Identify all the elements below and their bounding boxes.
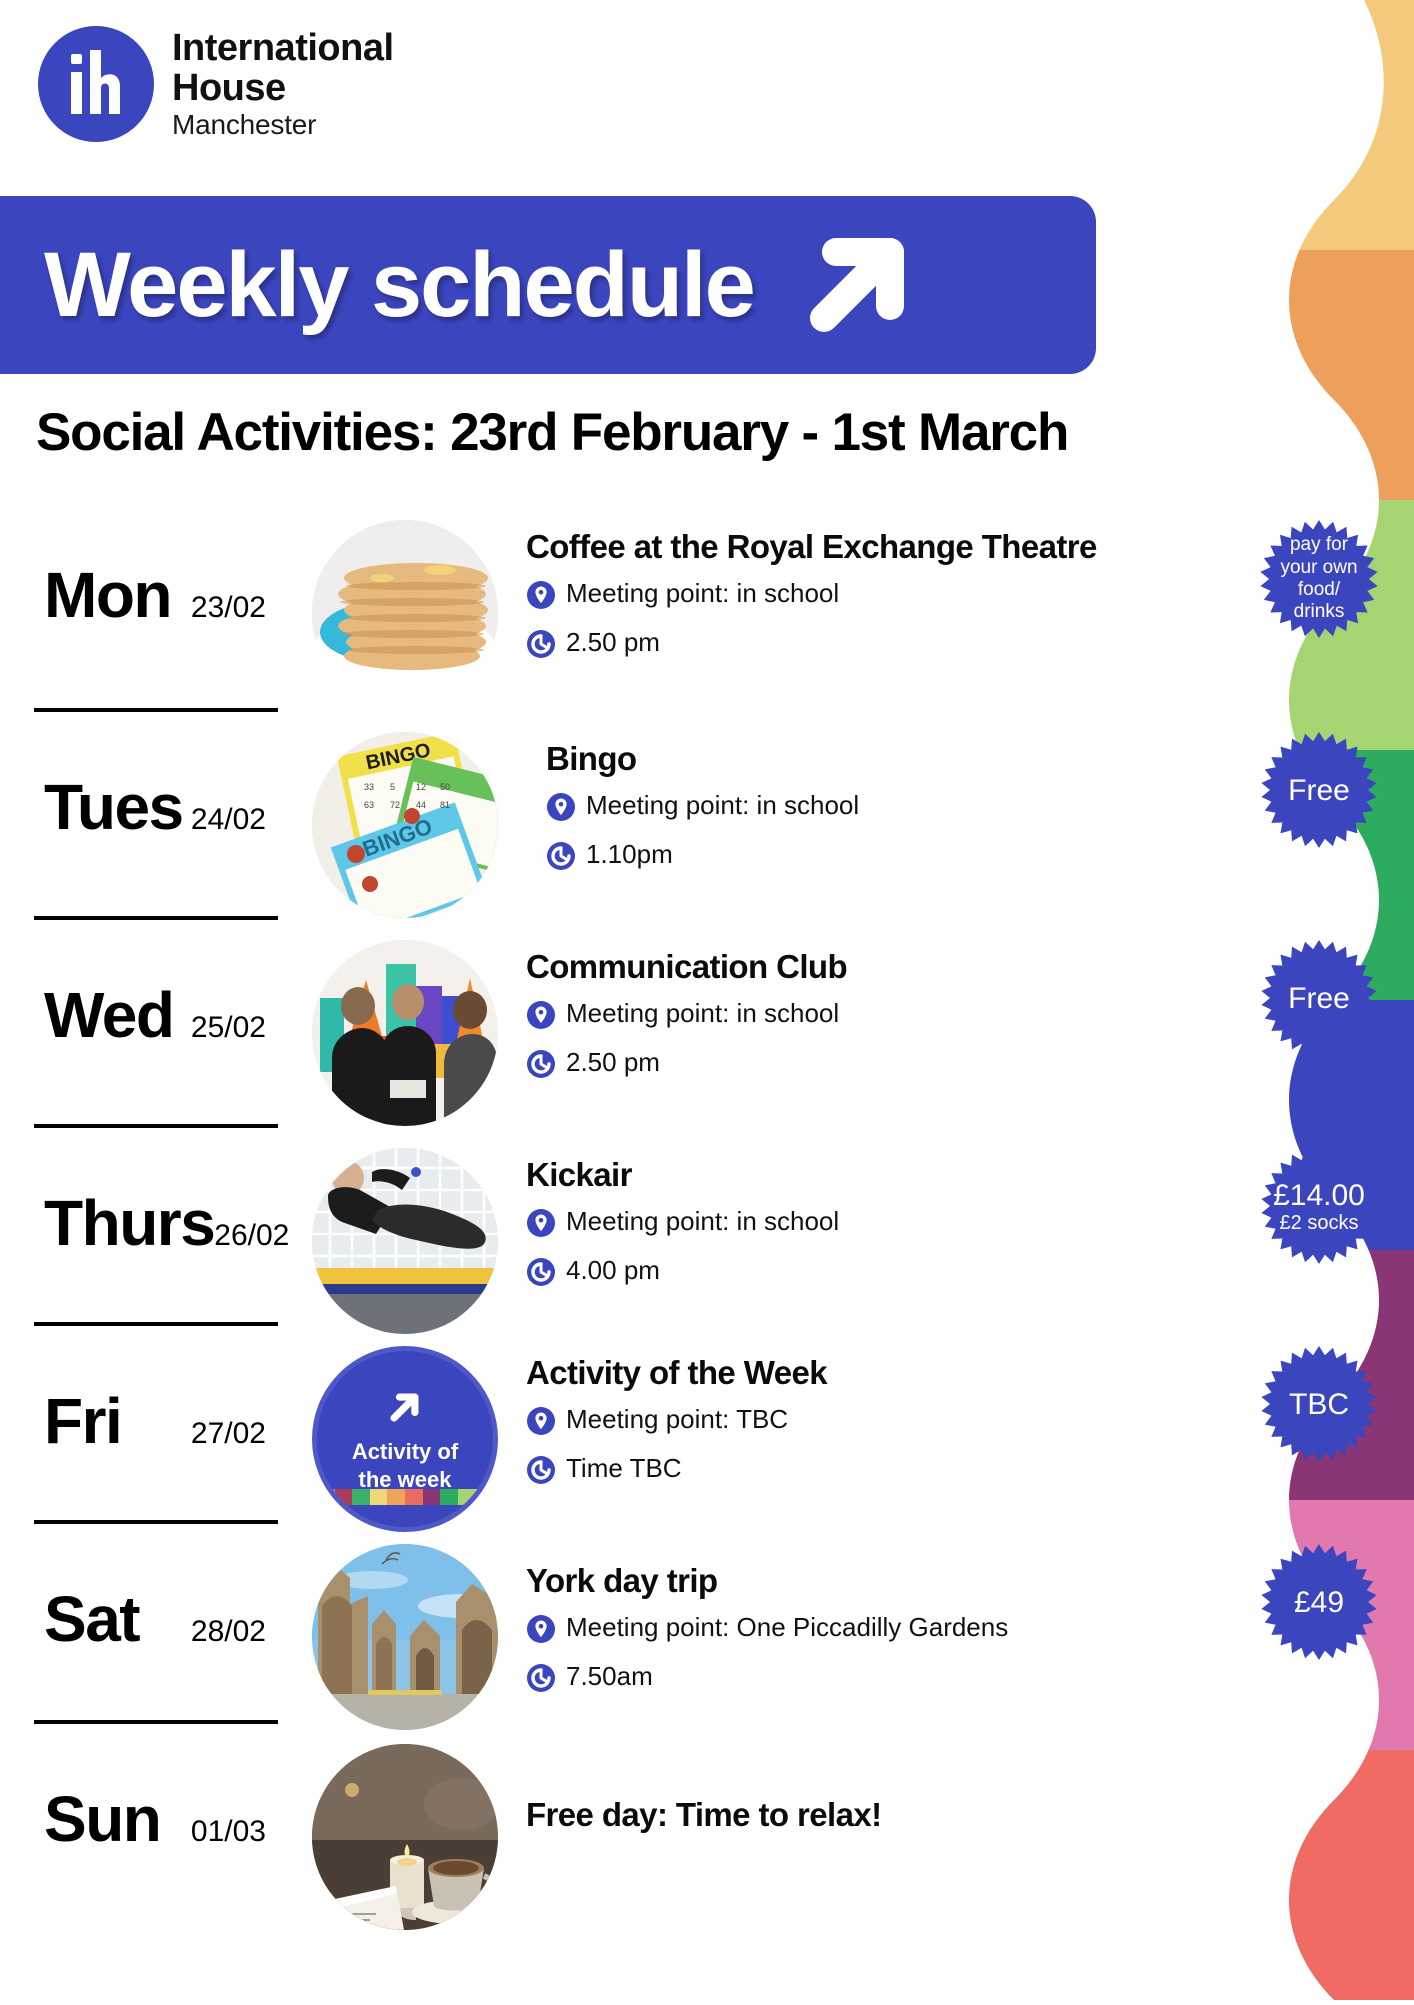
brand-logo: International House Manchester — [38, 26, 394, 142]
price-badge-cell: Free — [1224, 732, 1414, 848]
svg-text:63: 63 — [364, 800, 374, 810]
price-badge-label: £14.00£2 socks — [1261, 1148, 1377, 1264]
day-cell-thurs: Thurs26/02 — [0, 1148, 300, 1260]
price-badge-label: pay for your own food/ drinks — [1260, 520, 1378, 638]
activity-title: Bingo — [546, 740, 1224, 778]
price-badge-main: Free — [1288, 774, 1350, 807]
day-name: Wed — [44, 978, 173, 1052]
arrow-up-right-icon — [383, 1385, 427, 1429]
activity-thumbnail-cell — [300, 1744, 510, 1930]
price-badge-cell: £14.00£2 socks — [1224, 1148, 1414, 1264]
price-badge-main: pay for your own food/ drinks — [1260, 534, 1378, 624]
activity-thumbnail-cell: Activity ofthe week — [300, 1346, 510, 1532]
price-badge: £49 — [1261, 1544, 1377, 1660]
activity-title: Kickair — [526, 1156, 1224, 1194]
ih-monogram-icon — [38, 26, 154, 142]
schedule-list: Mon23/02Coffee at the Royal Exchange The… — [0, 520, 1414, 1942]
activity-details: KickairMeeting point: in school4.00 pm — [510, 1148, 1224, 1304]
location-pin-icon — [526, 1208, 556, 1238]
location-pin-icon — [526, 578, 556, 615]
time-row: 4.00 pm — [526, 1255, 1224, 1292]
svg-text:33: 33 — [364, 782, 374, 792]
day-divider — [34, 708, 278, 712]
day-cell-mon: Mon23/02 — [0, 520, 300, 632]
clock-icon — [526, 1453, 556, 1490]
meeting-point-row: Meeting point: in school — [526, 998, 1224, 1035]
location-pin-icon — [526, 580, 556, 610]
price-badge-sub: £2 socks — [1280, 1212, 1359, 1234]
price-badge-label: Free — [1261, 732, 1377, 848]
arrow-up-right-glyph — [798, 226, 918, 344]
bingo-cards-photo: BINGOBINGO335125063724481 — [312, 732, 498, 918]
svg-text:44: 44 — [416, 800, 426, 810]
schedule-row: Mon23/02Coffee at the Royal Exchange The… — [0, 520, 1414, 732]
coffee-candle-book-photo — [312, 1744, 498, 1930]
svg-text:72: 72 — [390, 800, 400, 810]
price-badge-label: £49 — [1261, 1544, 1377, 1660]
activity-title: York day trip — [526, 1562, 1224, 1600]
clock-icon — [546, 841, 576, 871]
location-pin-icon — [526, 1000, 556, 1030]
ih-logo-icon — [38, 26, 154, 142]
activity-thumbnail-cell — [300, 1544, 510, 1730]
clock-icon — [526, 1257, 556, 1287]
subtitle: Social Activities: 23rd February - 1st M… — [36, 402, 1068, 463]
schedule-row: Fri27/02Activity ofthe weekActivity of t… — [0, 1346, 1414, 1544]
brand-line-2: House — [172, 69, 394, 107]
day-name: Tues — [44, 770, 183, 844]
activity-title: Free day: Time to relax! — [526, 1796, 1224, 1834]
day-date: 26/02 — [214, 1219, 323, 1253]
svg-text:12: 12 — [416, 782, 426, 792]
price-badge: pay for your own food/ drinks — [1260, 520, 1378, 638]
meeting-point-text: Meeting point: in school — [566, 998, 839, 1029]
price-badge-main: £14.00 — [1273, 1179, 1365, 1212]
time-text: 4.00 pm — [566, 1255, 660, 1286]
svg-text:5: 5 — [390, 782, 395, 792]
activity-details: Coffee at the Royal Exchange TheatreMeet… — [510, 520, 1224, 676]
location-pin-icon — [526, 998, 556, 1035]
schedule-row: Sun01/03Free day: Time to relax! — [0, 1744, 1414, 1942]
day-cell-fri: Fri27/02 — [0, 1346, 300, 1458]
title-banner: Weekly schedule — [0, 196, 1096, 374]
meeting-point-text: Meeting point: One Piccadilly Gardens — [566, 1612, 1008, 1643]
price-badge-main: Free — [1288, 982, 1350, 1015]
location-pin-icon — [526, 1404, 556, 1441]
day-name: Thurs — [44, 1186, 214, 1260]
day-date: 01/03 — [191, 1815, 300, 1849]
time-text: 1.10pm — [586, 839, 673, 870]
meeting-point-text: Meeting point: in school — [566, 578, 839, 609]
day-date: 27/02 — [191, 1417, 300, 1451]
activity-title: Activity of the Week — [526, 1354, 1234, 1392]
time-row: 2.50 pm — [526, 1047, 1224, 1084]
brand-line-3: Manchester — [172, 111, 394, 139]
clock-icon — [526, 1255, 556, 1292]
location-pin-icon — [526, 1614, 556, 1644]
price-badge-main: TBC — [1289, 1388, 1349, 1421]
activity-details: Free day: Time to relax! — [510, 1744, 1224, 1846]
activity-of-week-label: Activity ofthe week — [352, 1438, 458, 1493]
price-badge-cell: TBC — [1224, 1346, 1414, 1462]
activity-details: BingoMeeting point: in school1.10pm — [510, 732, 1224, 888]
day-divider — [34, 1520, 278, 1524]
aow-line-1: Activity of — [352, 1438, 458, 1466]
meeting-point-text: Meeting point: in school — [566, 1206, 839, 1237]
day-divider — [34, 916, 278, 920]
price-badge-cell: pay for your own food/ drinks — [1224, 520, 1414, 638]
activity-title: Coffee at the Royal Exchange Theatre — [526, 528, 1224, 566]
activity-thumbnail-cell — [300, 520, 510, 706]
day-name: Sun — [44, 1782, 160, 1856]
activity-photo — [312, 1148, 498, 1334]
trampoline-photo — [312, 1148, 498, 1334]
location-pin-icon — [526, 1612, 556, 1649]
clock-icon — [526, 1455, 556, 1485]
activity-photo — [312, 1744, 498, 1930]
time-text: 7.50am — [566, 1661, 653, 1692]
meeting-point-row: Meeting point: in school — [546, 790, 1224, 827]
clock-icon — [526, 1663, 556, 1693]
schedule-row: Tues24/02BINGOBINGO335125063724481BingoM… — [0, 732, 1414, 940]
clock-icon — [526, 1661, 556, 1698]
time-text: 2.50 pm — [566, 1047, 660, 1078]
svg-text:81: 81 — [440, 800, 450, 810]
activity-photo — [312, 940, 498, 1126]
schedule-row: Sat28/02York day tripMeeting point: One … — [0, 1544, 1414, 1744]
page-title: Weekly schedule — [44, 233, 754, 338]
arrow-up-right-icon — [798, 226, 918, 344]
day-divider — [34, 1124, 278, 1128]
day-date: 25/02 — [191, 1011, 300, 1045]
day-name: Sat — [44, 1582, 139, 1656]
time-row: 1.10pm — [546, 839, 1224, 876]
svg-text:50: 50 — [440, 782, 450, 792]
day-divider — [34, 1720, 278, 1724]
day-date: 24/02 — [191, 803, 300, 837]
price-badge: Free — [1261, 732, 1377, 848]
activity-details: York day tripMeeting point: One Piccadil… — [510, 1544, 1224, 1710]
pancakes-photo — [312, 520, 498, 706]
york-ruins-photo — [312, 1544, 498, 1730]
activity-details: Activity of the WeekMeeting point: TBCTi… — [510, 1346, 1234, 1502]
meeting-point-text: Meeting point: TBC — [566, 1404, 788, 1435]
location-pin-icon — [546, 792, 576, 822]
meeting-point-text: Meeting point: in school — [586, 790, 859, 821]
price-badge-label: TBC — [1261, 1346, 1377, 1462]
schedule-row: Thurs26/02KickairMeeting point: in schoo… — [0, 1148, 1414, 1346]
clock-icon — [526, 629, 556, 659]
activity-thumbnail-cell: BINGOBINGO335125063724481 — [300, 732, 510, 918]
activity-thumbnail-cell — [300, 1148, 510, 1334]
meeting-point-row: Meeting point: TBC — [526, 1404, 1234, 1441]
clock-icon — [526, 627, 556, 664]
color-stripe — [317, 1489, 493, 1505]
day-cell-tues: Tues24/02 — [0, 732, 300, 844]
price-badge-label: Free — [1261, 940, 1377, 1056]
arrow-up-right-icon — [383, 1385, 427, 1434]
price-badge: £14.00£2 socks — [1261, 1148, 1377, 1264]
time-text: 2.50 pm — [566, 627, 660, 658]
day-date: 23/02 — [191, 591, 300, 625]
location-pin-icon — [526, 1206, 556, 1243]
time-row: 2.50 pm — [526, 627, 1224, 664]
clock-icon — [526, 1047, 556, 1084]
activity-title: Communication Club — [526, 948, 1224, 986]
meeting-point-row: Meeting point: in school — [526, 578, 1224, 615]
brand-wordmark: International House Manchester — [172, 29, 394, 139]
activity-details: Communication ClubMeeting point: in scho… — [510, 940, 1224, 1096]
communication-club-photo — [312, 940, 498, 1126]
schedule-row: Wed25/02Communication ClubMeeting point:… — [0, 940, 1414, 1148]
day-cell-sun: Sun01/03 — [0, 1744, 300, 1856]
day-date: 28/02 — [191, 1615, 300, 1649]
day-cell-wed: Wed25/02 — [0, 940, 300, 1052]
price-badge-main: £49 — [1294, 1586, 1344, 1619]
price-badge-cell: £49 — [1224, 1544, 1414, 1680]
meeting-point-row: Meeting point: in school — [526, 1206, 1224, 1243]
activity-photo — [312, 1544, 498, 1730]
time-row: Time TBC — [526, 1453, 1234, 1490]
price-badge: TBC — [1261, 1346, 1377, 1462]
clock-icon — [526, 1049, 556, 1079]
day-name: Fri — [44, 1384, 121, 1458]
time-row: 7.50am — [526, 1661, 1224, 1698]
meeting-point-row: Meeting point: One Piccadilly Gardens — [526, 1612, 1224, 1649]
activity-photo: BINGOBINGO335125063724481 — [312, 732, 498, 918]
price-badge: Free — [1261, 940, 1377, 1056]
day-divider — [34, 1322, 278, 1326]
location-pin-icon — [546, 790, 576, 827]
day-cell-sat: Sat28/02 — [0, 1544, 300, 1656]
price-badge-cell: Free — [1224, 940, 1414, 1056]
activity-thumbnail-cell — [300, 940, 510, 1126]
activity-of-week-badge: Activity ofthe week — [312, 1346, 498, 1532]
activity-photo — [312, 520, 498, 706]
location-pin-icon — [526, 1406, 556, 1436]
time-text: Time TBC — [566, 1453, 682, 1484]
clock-icon — [546, 839, 576, 876]
day-name: Mon — [44, 558, 171, 632]
brand-line-1: International — [172, 29, 394, 67]
